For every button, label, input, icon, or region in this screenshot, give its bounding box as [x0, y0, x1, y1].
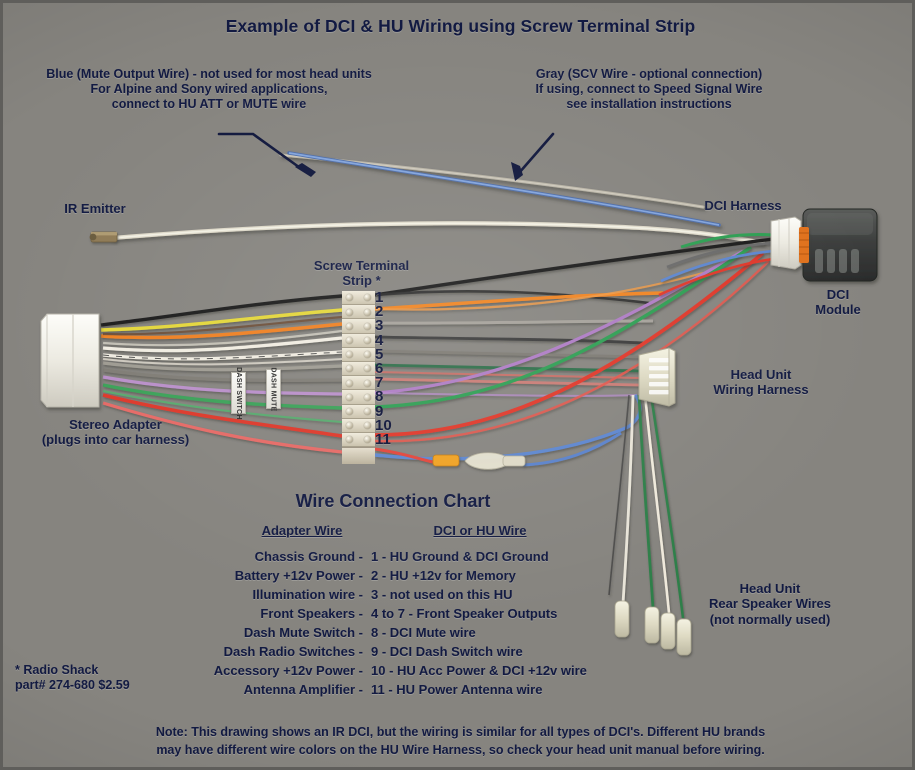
stereo-adapter-label: Stereo Adapter (plugs into car harness) [13, 417, 218, 448]
chart-row-dci: 10 - HU Acc Power & DCI +12v wire [371, 663, 671, 678]
chart-row-adapter: Illumination wire - [143, 587, 363, 602]
dci-module-line-2: Module [793, 302, 883, 317]
chart-row-dci: 8 - DCI Mute wire [371, 625, 671, 640]
ir-emitter-label: IR Emitter [25, 201, 165, 216]
chart-row-dci: 3 - not used on this HU [371, 587, 671, 602]
blue-mute-line-3: connect to HU ATT or MUTE wire [11, 97, 407, 112]
radio-shack-line-2: part# 274-680 $2.59 [15, 678, 205, 693]
chart-row-dci: 1 - HU Ground & DCI Ground [371, 549, 671, 564]
strip-label-line-1: Screw Terminal [289, 258, 434, 273]
page-title: Example of DCI & HU Wiring using Screw T… [3, 16, 915, 37]
chart-row-adapter: Battery +12v Power - [143, 568, 363, 583]
bottom-note-line-1: Note: This drawing shows an IR DCI, but … [3, 723, 915, 741]
chart-row-dci: 2 - HU +12v for Memory [371, 568, 671, 583]
dci-module-label: DCI Module [793, 287, 883, 318]
rear-speaker-line-1: Head Unit [681, 581, 859, 596]
scv-arrow-line [519, 134, 553, 173]
dci-harness-label: DCI Harness [673, 198, 813, 213]
dci-module-line-1: DCI [793, 287, 883, 302]
stereo-adapter-line-1: Stereo Adapter [13, 417, 218, 432]
chart-row-dci: 9 - DCI Dash Switch wire [371, 644, 671, 659]
gray-scv-line-1: Gray (SCV Wire - optional connection) [493, 67, 805, 82]
chart-row-dci: 4 to 7 - Front Speaker Outputs [371, 606, 671, 621]
gray-scv-line-2: If using, connect to Speed Signal Wire [493, 82, 805, 97]
rear-speaker-label: Head Unit Rear Speaker Wires (not normal… [681, 581, 859, 627]
rear-speaker-line-3: (not normally used) [681, 612, 859, 627]
mute-arrow-line [219, 134, 303, 170]
strip-label-line-2: Strip * [289, 273, 434, 288]
radio-shack-footnote: * Radio Shack part# 274-680 $2.59 [15, 663, 205, 693]
chart-row-adapter: Dash Radio Switches - [143, 644, 363, 659]
chart-header-dci: DCI or HU Wire [375, 523, 585, 538]
blue-mute-line-2: For Alpine and Sony wired applications, [11, 82, 407, 97]
hu-harness-line-1: Head Unit [681, 367, 841, 382]
stereo-adapter-line-2: (plugs into car harness) [13, 432, 218, 447]
bottom-note-line-2: may have different wire colors on the HU… [3, 741, 915, 759]
chart-row-adapter: Front Speakers - [143, 606, 363, 621]
gray-scv-annotation: Gray (SCV Wire - optional connection) If… [493, 67, 805, 111]
chart-row-adapter: Dash Mute Switch - [143, 625, 363, 640]
wiring-diagram-page: 1 2 3 4 5 6 7 8 9 10 11 DASH SWITCH DASH… [0, 0, 915, 770]
scv-arrow-head [511, 162, 523, 181]
hu-harness-line-2: Wiring Harness [681, 382, 841, 397]
blue-mute-annotation: Blue (Mute Output Wire) - not used for m… [11, 67, 407, 111]
chart-header-adapter: Adapter Wire [217, 523, 387, 538]
screw-terminal-strip-label: Screw Terminal Strip * [289, 258, 434, 289]
head-unit-harness-label: Head Unit Wiring Harness [681, 367, 841, 398]
chart-row-adapter: Chassis Ground - [143, 549, 363, 564]
gray-scv-line-3: see installation instructions [493, 97, 805, 112]
blue-mute-line-1: Blue (Mute Output Wire) - not used for m… [11, 67, 407, 82]
radio-shack-line-1: * Radio Shack [15, 663, 205, 678]
bottom-note: Note: This drawing shows an IR DCI, but … [3, 723, 915, 759]
chart-row-dci: 11 - HU Power Antenna wire [371, 682, 671, 697]
chart-title: Wire Connection Chart [183, 491, 603, 512]
rear-speaker-line-2: Rear Speaker Wires [681, 596, 859, 611]
